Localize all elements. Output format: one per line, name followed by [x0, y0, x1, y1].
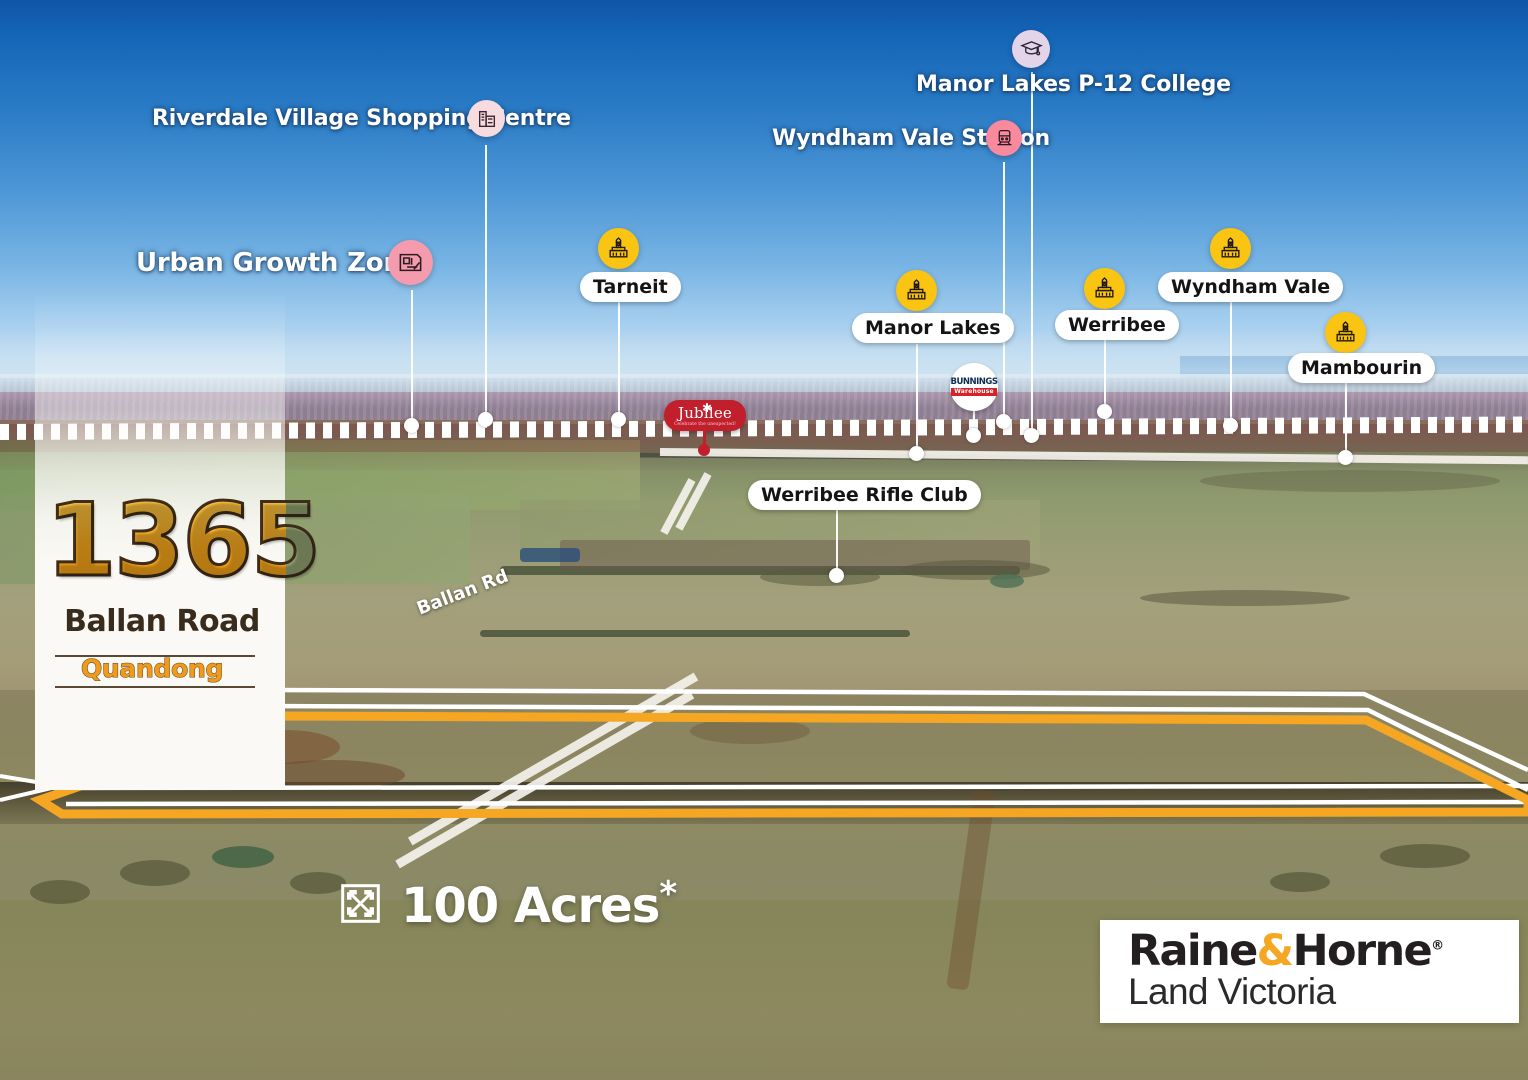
- jubilee-star-icon: ✱: [702, 402, 712, 414]
- registered-mark: ®: [1431, 939, 1444, 954]
- leader-line-wyndham-vale-station: [1003, 162, 1005, 420]
- boundary-guide-bottom-inner: [66, 802, 1528, 804]
- agency-name-raine: Raine: [1128, 926, 1257, 976]
- graduation-cap-icon[interactable]: [1012, 30, 1050, 68]
- bunnings-warehouse-marker[interactable]: BUNNINGS Warehouse: [950, 363, 998, 411]
- leader-line-werribee: [1104, 340, 1106, 412]
- leader-line-wyndham-vale: [1230, 302, 1232, 426]
- pill-mambourin[interactable]: Mambourin: [1288, 353, 1435, 383]
- leader-dot-manor-lakes-college: [1024, 428, 1039, 443]
- leader-line-ugz: [411, 290, 413, 423]
- leader-dot-tarneit: [611, 412, 626, 427]
- jubilee-estate-marker[interactable]: ✱ Jubilee Celebrate the unexpected!: [664, 400, 746, 431]
- jubilee-leader-dot: [698, 444, 710, 456]
- agency-name: Raine&Horne®: [1128, 930, 1519, 974]
- blueprint-plan-icon[interactable]: [388, 240, 433, 285]
- shopping-mall-icon[interactable]: [468, 100, 505, 137]
- pill-manor-lakes[interactable]: Manor Lakes: [852, 313, 1014, 343]
- agency-name-horne: Horne: [1293, 926, 1432, 976]
- acreage-block: 100 Acres*: [338, 878, 676, 934]
- leader-dot-riverdale: [478, 412, 493, 427]
- jubilee-tagline: Celebrate the unexpected!: [674, 423, 736, 427]
- leader-line-riverdale: [485, 145, 487, 428]
- pill-tarneit[interactable]: Tarneit: [580, 272, 681, 302]
- leader-line-rifle-club: [836, 510, 838, 576]
- street-name: Ballan Road: [47, 604, 277, 639]
- town-hall-icon[interactable]: [1084, 268, 1125, 309]
- leader-dot-werribee: [1097, 404, 1112, 419]
- pill-werribee-rifle-club[interactable]: Werribee Rifle Club: [748, 480, 981, 510]
- leader-line-manor-lakes: [916, 344, 918, 454]
- leader-line-tarneit: [618, 302, 620, 422]
- street-number: 1365: [46, 490, 286, 591]
- town-hall-icon[interactable]: [896, 270, 937, 311]
- boundary-guide-top: [270, 690, 1528, 770]
- town-hall-icon[interactable]: [598, 228, 639, 269]
- pill-werribee[interactable]: Werribee: [1055, 310, 1179, 340]
- expand-area-icon: [338, 881, 383, 931]
- agency-division: Land Victoria: [1128, 972, 1519, 1013]
- leader-dot-manor-lakes: [909, 446, 924, 461]
- label-urban-growth-zone[interactable]: Urban Growth Zone: [136, 248, 419, 278]
- pill-wyndham-vale[interactable]: Wyndham Vale: [1158, 272, 1343, 302]
- label-manor-lakes-p12-college[interactable]: Manor Lakes P-12 College: [916, 72, 1231, 97]
- town-hall-icon[interactable]: [1210, 228, 1251, 269]
- label-riverdale-village-shopping-centre[interactable]: Riverdale Village Shopping Centre: [152, 106, 571, 131]
- leader-dot-wyndham-vale-station: [996, 414, 1011, 429]
- acreage-asterisk: *: [659, 874, 676, 914]
- acreage-value: 100 Acres*: [401, 878, 676, 934]
- leader-dot-wyndham-vale: [1223, 418, 1238, 433]
- leader-dot-rifle-club: [829, 568, 844, 583]
- agency-logo[interactable]: Raine&Horne® Land Victoria: [1100, 920, 1519, 1023]
- agency-ampersand: &: [1257, 926, 1293, 976]
- bunnings-warehouse-banner: Warehouse: [951, 388, 997, 396]
- train-icon[interactable]: [986, 120, 1022, 156]
- leader-dot-ugz: [404, 418, 419, 433]
- divider-bottom: [55, 686, 255, 688]
- town-hall-icon[interactable]: [1325, 312, 1366, 353]
- property-marketing-image: Ballan Rd 1365 Ballan Road Quandong Rive…: [0, 0, 1528, 1080]
- leader-dot-mambourin: [1338, 450, 1353, 465]
- leader-dot-bunnings: [966, 428, 981, 443]
- bunnings-wordmark: BUNNINGS: [951, 378, 998, 387]
- suburb-name: Quandong: [47, 654, 257, 683]
